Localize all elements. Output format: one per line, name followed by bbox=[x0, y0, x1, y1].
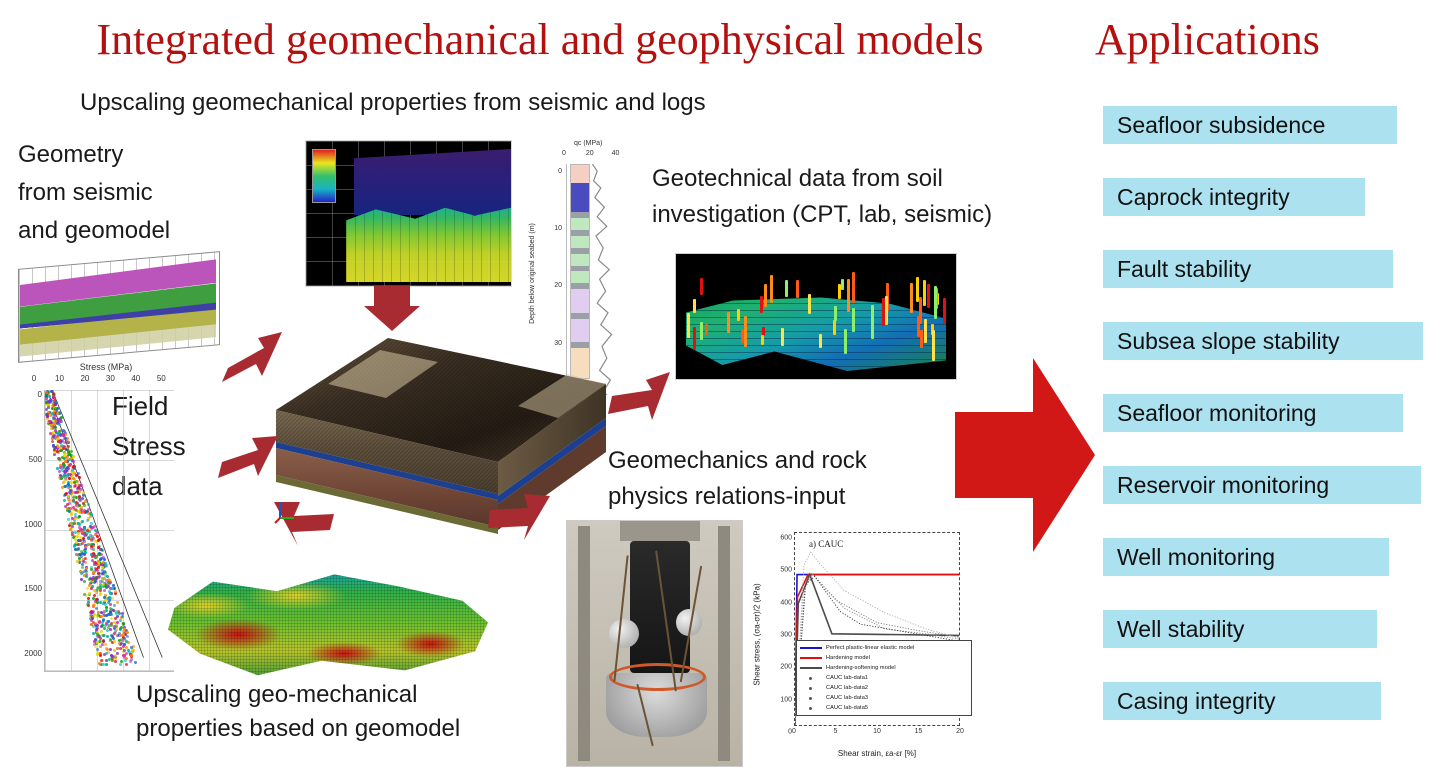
geomodel-surfaces-figure bbox=[10, 248, 230, 363]
stress-data-point bbox=[95, 598, 98, 601]
stress-data-point bbox=[106, 575, 109, 578]
stress-data-point bbox=[92, 552, 95, 555]
upscaled-geomodel-cells bbox=[168, 560, 488, 680]
stress-data-point bbox=[98, 553, 101, 556]
stress-data-point bbox=[88, 592, 91, 595]
geotechnical-borehole-pin bbox=[705, 324, 708, 334]
applications-list: Seafloor subsidence Caprock integrity Fa… bbox=[1103, 106, 1423, 754]
stress-data-point bbox=[98, 538, 101, 541]
stress-data-point bbox=[54, 446, 57, 449]
stress-xaxis-ticks: 01020304050 bbox=[34, 374, 174, 386]
cauc-legend-row: CAUC lab-data2 bbox=[800, 683, 968, 693]
stress-data-point bbox=[67, 495, 70, 498]
stress-data-point bbox=[125, 663, 128, 666]
application-item-seafloor-monitoring[interactable]: Seafloor monitoring bbox=[1103, 394, 1403, 432]
cauc-legend-key bbox=[800, 703, 822, 713]
stress-data-point bbox=[76, 491, 79, 494]
stress-data-point bbox=[117, 610, 120, 613]
stress-data-point bbox=[83, 553, 86, 556]
geotechnical-borehole-pin bbox=[871, 305, 874, 339]
arrow-geomodel-to-block-icon bbox=[222, 330, 284, 386]
geotechnical-borehole-pin bbox=[844, 329, 847, 355]
stress-ytick: 2000 bbox=[24, 649, 42, 658]
stress-data-point bbox=[77, 472, 80, 475]
geotechnical-borehole-pin bbox=[834, 306, 837, 321]
geotechnical-borehole-pin bbox=[838, 284, 841, 299]
lab-frame-left bbox=[578, 526, 590, 761]
stress-data-point bbox=[78, 476, 81, 479]
cauc-xaxis-title: Shear strain, εa-εr [%] bbox=[794, 749, 960, 758]
cauc-legend-row: CAUC lab-data1 bbox=[800, 673, 968, 683]
cauc-yaxis-title: Shear stress, (σa-σr)/2 (kPa) bbox=[753, 583, 762, 685]
cauc-ytick: 600 bbox=[780, 535, 792, 542]
cpt-xaxis-title: qc (MPa) bbox=[574, 140, 602, 147]
stress-data-point bbox=[126, 631, 129, 634]
geotechnical-borehole-pin bbox=[910, 283, 913, 313]
geotechnical-borehole-pin bbox=[693, 327, 696, 350]
cauc-xtick: 15 bbox=[915, 728, 923, 735]
lab-knob-left bbox=[609, 619, 639, 648]
stress-data-point bbox=[70, 450, 73, 453]
geotechnical-borehole-pin bbox=[770, 275, 773, 303]
cpt-ytick: 20 bbox=[554, 282, 562, 289]
arrow-stress-to-block-icon bbox=[218, 432, 280, 484]
stress-data-point bbox=[101, 566, 104, 569]
geotechnical-seabed-surface bbox=[686, 296, 946, 371]
stress-data-point bbox=[70, 512, 73, 515]
stress-data-point bbox=[65, 478, 68, 481]
cauc-legend-key bbox=[800, 693, 822, 703]
stress-xaxis-title: Stress (MPa) bbox=[46, 362, 166, 372]
stress-data-point bbox=[87, 508, 90, 511]
stress-data-point bbox=[74, 513, 77, 516]
cauc-legend-label: CAUC lab-data2 bbox=[826, 685, 868, 691]
stress-data-point bbox=[87, 503, 90, 506]
stress-ytick: 1500 bbox=[24, 584, 42, 593]
stress-data-point bbox=[98, 662, 101, 665]
stress-data-point bbox=[60, 444, 63, 447]
lab-orange-ring bbox=[609, 663, 706, 691]
caption-upscaling-line2: properties based on geomodel bbox=[136, 714, 460, 744]
seismic-3d-upper-surface bbox=[354, 149, 511, 215]
cauc-legend-label: Hardening model bbox=[826, 655, 870, 661]
geotechnical-borehole-pin bbox=[882, 298, 885, 326]
cpt-yaxis-title: Depth below original seabed (m) bbox=[529, 223, 536, 324]
stress-data-point bbox=[60, 416, 63, 419]
stress-data-point bbox=[68, 502, 71, 505]
cauc-legend-label: CAUC lab-data1 bbox=[826, 675, 868, 681]
stress-data-point bbox=[75, 501, 78, 504]
stress-data-point bbox=[106, 635, 109, 638]
stress-data-point bbox=[67, 467, 70, 470]
stress-data-point bbox=[56, 450, 59, 453]
cpt-lithology-segment bbox=[571, 271, 589, 283]
stress-data-point bbox=[90, 587, 93, 590]
application-item-reservoir-monitoring[interactable]: Reservoir monitoring bbox=[1103, 466, 1421, 504]
stress-xtick: 20 bbox=[80, 374, 89, 383]
caption-geometry-line2: from seismic bbox=[18, 178, 153, 208]
cpt-lithology-segment bbox=[571, 183, 589, 213]
stress-data-point bbox=[93, 525, 96, 528]
stress-data-point bbox=[67, 451, 70, 454]
geotechnical-borehole-pin bbox=[841, 279, 844, 290]
cauc-ytick: 500 bbox=[780, 567, 792, 574]
geotechnical-borehole-pin bbox=[744, 316, 747, 348]
cpt-ytick: 0 bbox=[558, 168, 562, 175]
stress-data-point bbox=[102, 618, 105, 621]
stress-data-point bbox=[87, 536, 90, 539]
stress-data-point bbox=[72, 477, 75, 480]
stress-data-point bbox=[109, 628, 112, 631]
caption-geotechnical-line2: investigation (CPT, lab, seismic) bbox=[652, 200, 992, 230]
stress-data-point bbox=[94, 645, 97, 648]
stress-data-point bbox=[77, 516, 80, 519]
lab-apparatus-photo bbox=[566, 520, 743, 767]
stress-plot-area bbox=[44, 390, 174, 672]
geotechnical-borehole-pin bbox=[927, 284, 930, 308]
cauc-xtick: 20 bbox=[956, 728, 964, 735]
geotechnical-borehole-pin bbox=[700, 322, 703, 340]
stress-data-point bbox=[109, 587, 112, 590]
cauc-legend-key bbox=[800, 683, 822, 693]
geotechnical-borehole-pin bbox=[764, 284, 767, 307]
stress-data-point bbox=[93, 578, 96, 581]
cpt-xtick: 0 bbox=[562, 150, 566, 157]
stress-data-point bbox=[121, 615, 124, 618]
stress-data-point bbox=[103, 596, 106, 599]
cpt-xaxis-ticks: 02040 bbox=[564, 150, 626, 160]
stress-data-point bbox=[105, 606, 108, 609]
stress-data-point bbox=[73, 485, 76, 488]
stress-data-point bbox=[73, 481, 76, 484]
cauc-yaxis-ticks: 0100200300400500600 bbox=[768, 526, 794, 726]
geotechnical-borehole-pin bbox=[700, 278, 703, 295]
geotechnical-borehole-pin bbox=[920, 330, 923, 348]
geotechnical-borehole-pin bbox=[737, 309, 740, 321]
stress-data-point bbox=[63, 494, 66, 497]
caption-geometry-line3: and geomodel bbox=[18, 216, 170, 246]
geotechnical-borehole-pin bbox=[934, 286, 937, 319]
cauc-xtick: 5 bbox=[834, 728, 838, 735]
cauc-ytick: 200 bbox=[780, 664, 792, 671]
geotechnical-borehole-pin bbox=[819, 334, 822, 347]
cauc-legend-label: Hardening-softening model bbox=[826, 665, 896, 671]
stress-data-point bbox=[105, 622, 108, 625]
applications-title: Applications bbox=[1095, 14, 1425, 66]
stress-data-point bbox=[111, 635, 114, 638]
stress-data-point bbox=[108, 599, 111, 602]
stress-data-point bbox=[92, 604, 95, 607]
geotechnical-borehole-pin bbox=[847, 279, 850, 312]
application-item-well-stability[interactable]: Well stability bbox=[1103, 610, 1377, 648]
cauc-ytick: 100 bbox=[780, 696, 792, 703]
stress-data-point bbox=[118, 639, 121, 642]
caption-geomechanics-line2: physics relations-input bbox=[608, 482, 845, 512]
application-item-caprock-integrity[interactable]: Caprock integrity bbox=[1103, 178, 1365, 216]
stress-data-point bbox=[69, 528, 72, 531]
arrow-geotech-to-block-icon bbox=[608, 370, 672, 426]
stress-data-point bbox=[123, 649, 126, 652]
geotechnical-borehole-pin bbox=[917, 316, 920, 337]
stress-xtick: 30 bbox=[106, 374, 115, 383]
stress-data-point bbox=[114, 590, 117, 593]
cauc-legend-key bbox=[800, 657, 822, 659]
geotechnical-borehole-pin bbox=[852, 272, 855, 303]
cpt-lithology-segment bbox=[571, 218, 589, 230]
cauc-legend-row: CAUC lab-data5 bbox=[800, 703, 968, 713]
stress-data-point bbox=[57, 440, 60, 443]
geotechnical-borehole-pin bbox=[781, 328, 784, 345]
stress-ytick: 1000 bbox=[24, 520, 42, 529]
stress-data-point bbox=[94, 533, 97, 536]
cauc-xtick: 10 bbox=[873, 728, 881, 735]
lab-frame-right bbox=[718, 526, 730, 761]
cpt-lithology-segment bbox=[571, 236, 589, 248]
stress-data-point bbox=[116, 601, 119, 604]
stress-data-point bbox=[59, 434, 62, 437]
lab-triaxial-cell bbox=[630, 541, 690, 673]
page-title: Integrated geomechanical and geophysical… bbox=[40, 14, 1040, 66]
seismic-3d-figure bbox=[305, 140, 512, 287]
cauc-legend-key bbox=[800, 673, 822, 683]
stress-data-point bbox=[109, 611, 112, 614]
cauc-ytick: 400 bbox=[780, 599, 792, 606]
stress-data-point bbox=[78, 523, 81, 526]
stress-data-point bbox=[77, 548, 80, 551]
axis-triad-icon bbox=[274, 498, 298, 524]
stress-data-point bbox=[102, 663, 105, 666]
stress-data-point bbox=[92, 625, 95, 628]
geotechnical-borehole-pin bbox=[761, 335, 764, 345]
stress-data-point bbox=[76, 560, 79, 563]
cpt-lithology-segment bbox=[571, 165, 589, 183]
caption-geometry-line1: Geometry bbox=[18, 140, 123, 170]
stress-data-point bbox=[90, 614, 93, 617]
application-item-casing-integrity[interactable]: Casing integrity bbox=[1103, 682, 1381, 720]
stress-data-point bbox=[105, 614, 108, 617]
stress-data-point bbox=[90, 538, 93, 541]
geotechnical-borehole-pin bbox=[727, 312, 730, 333]
poster-canvas: Integrated geomechanical and geophysical… bbox=[0, 0, 1440, 774]
arrow-seismic-to-block-icon bbox=[362, 286, 422, 332]
lab-crosshead bbox=[620, 521, 701, 541]
geotechnical-borehole-pin bbox=[687, 313, 690, 338]
stress-data-point bbox=[101, 624, 104, 627]
cauc-legend-row: Hardening-softening model bbox=[800, 663, 968, 673]
cauc-panel-label: a) CAUC bbox=[809, 539, 843, 549]
cauc-legend-row: CAUC lab-data3 bbox=[800, 693, 968, 703]
cauc-legend-row: Perfect plastic-linear elastic model bbox=[800, 643, 968, 653]
geotechnical-borehole-pin bbox=[693, 299, 696, 313]
stress-data-point bbox=[80, 488, 83, 491]
stress-data-point bbox=[72, 471, 75, 474]
main-flow-arrow-icon bbox=[955, 350, 1095, 560]
stress-data-point bbox=[134, 661, 137, 664]
application-item-seafloor-subsidence[interactable]: Seafloor subsidence bbox=[1103, 106, 1397, 144]
geotechnical-borehole-pin bbox=[796, 280, 799, 298]
stress-data-point bbox=[123, 637, 126, 640]
cauc-legend-key bbox=[800, 667, 822, 669]
stress-data-point bbox=[67, 518, 70, 521]
stress-xtick: 0 bbox=[32, 374, 36, 383]
stress-data-point bbox=[95, 628, 98, 631]
geotechnical-borehole-pin bbox=[852, 308, 855, 332]
stress-data-point bbox=[53, 396, 56, 399]
application-item-fault-stability[interactable]: Fault stability bbox=[1103, 250, 1393, 288]
stress-ytick: 0 bbox=[38, 390, 42, 399]
stress-data-point bbox=[69, 489, 72, 492]
cpt-lithology-segment bbox=[571, 254, 589, 266]
geotechnical-borehole-pin bbox=[833, 320, 836, 335]
stress-ytick: 500 bbox=[29, 455, 42, 464]
cpt-ytick: 10 bbox=[554, 225, 562, 232]
stress-xtick: 10 bbox=[55, 374, 64, 383]
stress-yaxis-ticks: 0500100015002000 bbox=[8, 390, 44, 670]
cauc-legend-label: CAUC lab-data3 bbox=[826, 695, 868, 701]
cauc-legend-label: CAUC lab-data5 bbox=[826, 705, 868, 711]
cpt-xtick: 20 bbox=[586, 150, 594, 157]
caption-geomechanics-line1: Geomechanics and rock bbox=[608, 446, 867, 476]
stress-data-point bbox=[110, 624, 113, 627]
stress-data-point bbox=[71, 517, 74, 520]
stress-data-point bbox=[115, 628, 118, 631]
geotechnical-survey-figure bbox=[675, 253, 957, 380]
stress-data-point bbox=[84, 500, 87, 503]
stress-data-point bbox=[111, 657, 114, 660]
stress-data-point bbox=[96, 569, 99, 572]
geotechnical-borehole-pin bbox=[760, 296, 763, 313]
seismic-3d-colorbar bbox=[312, 149, 336, 203]
upscaled-geomodel-figure bbox=[168, 560, 488, 680]
geotechnical-borehole-pin bbox=[924, 319, 927, 343]
cauc-xaxis-ticks: 05101520 bbox=[794, 728, 960, 740]
geotechnical-borehole-pin bbox=[785, 280, 788, 297]
cpt-lithology-segment bbox=[571, 289, 589, 313]
cauc-legend: Perfect plastic-linear elastic modelHard… bbox=[796, 640, 972, 716]
application-item-well-monitoring[interactable]: Well monitoring bbox=[1103, 538, 1389, 576]
geotechnical-borehole-pin bbox=[885, 296, 888, 325]
caption-upscaling-line1: Upscaling geo-mechanical bbox=[136, 680, 417, 710]
subtitle: Upscaling geomechanical properties from … bbox=[80, 88, 880, 118]
cauc-legend-row: Hardening model bbox=[800, 653, 968, 663]
stress-data-point bbox=[81, 566, 84, 569]
stress-data-point bbox=[100, 548, 103, 551]
stress-data-point bbox=[100, 611, 103, 614]
cauc-legend-key bbox=[800, 647, 822, 649]
stress-data-point bbox=[100, 630, 103, 633]
stress-data-point bbox=[65, 456, 68, 459]
stress-xtick: 50 bbox=[157, 374, 166, 383]
stress-data-point bbox=[73, 544, 76, 547]
geotechnical-borehole-pin bbox=[808, 294, 811, 314]
stress-data-point bbox=[130, 654, 133, 657]
stress-data-point bbox=[102, 583, 105, 586]
stress-data-point bbox=[67, 498, 70, 501]
cauc-legend-label: Perfect plastic-linear elastic model bbox=[826, 645, 914, 651]
stress-data-point bbox=[104, 603, 107, 606]
application-item-subsea-slope-stability[interactable]: Subsea slope stability bbox=[1103, 322, 1423, 360]
geotechnical-borehole-pin bbox=[943, 298, 946, 324]
geotechnical-borehole-pin bbox=[932, 330, 935, 361]
cauc-xtick: 0 bbox=[792, 728, 796, 735]
stress-data-point bbox=[96, 615, 99, 618]
stress-data-point bbox=[86, 603, 89, 606]
cauc-ytick: 300 bbox=[780, 632, 792, 639]
cpt-xtick: 40 bbox=[612, 150, 620, 157]
stress-xtick: 40 bbox=[131, 374, 140, 383]
seismic-3d-volume bbox=[346, 203, 511, 282]
stress-data-point bbox=[70, 457, 73, 460]
arrow-geomechanics-to-block-icon bbox=[486, 492, 552, 546]
stress-data-point bbox=[52, 392, 55, 395]
stress-data-point bbox=[77, 532, 80, 535]
stress-data-point bbox=[83, 541, 86, 544]
geotechnical-borehole-pin bbox=[923, 280, 926, 307]
stress-data-point bbox=[105, 647, 108, 650]
field-stress-scatter-chart: Stress (MPa) 01020304050 050010001500200… bbox=[6, 362, 176, 682]
stress-data-point bbox=[75, 553, 78, 556]
stress-data-point bbox=[102, 634, 105, 637]
stress-data-point bbox=[121, 612, 124, 615]
caption-geotechnical-line1: Geotechnical data from soil bbox=[652, 164, 943, 194]
stress-data-point bbox=[99, 558, 102, 561]
